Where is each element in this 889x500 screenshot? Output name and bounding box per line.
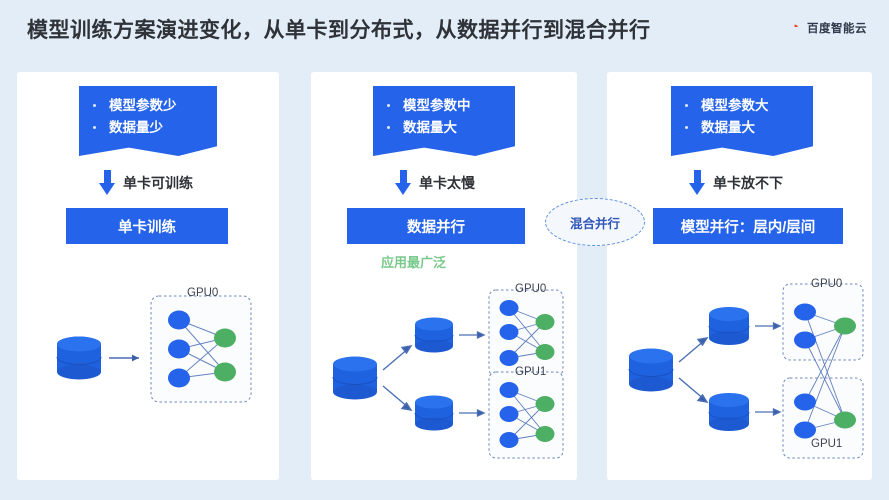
gpu-label: GPU1 <box>811 438 842 450</box>
input-node-group <box>168 311 190 388</box>
output-node-group <box>834 412 856 429</box>
bullet-list: 模型参数少 数据量少 <box>89 95 205 139</box>
page-title: 模型训练方案演进变化，从单卡到分布式，从数据并行到混合并行 <box>27 14 651 44</box>
transition-arrow-row: 单卡放不下 <box>689 170 783 195</box>
strategy-note: 应用最广泛 <box>381 252 446 271</box>
strategy-label-box: 数据并行 <box>347 208 525 244</box>
arrow-caption: 单卡放不下 <box>713 173 783 193</box>
arrow-down-icon <box>99 170 116 195</box>
bullet-list: 模型参数中 数据量大 <box>383 95 503 139</box>
brand-logo: 百度智能云 <box>787 20 867 36</box>
training-diagram-data-parallel: GPU0 GPU1 <box>319 272 569 462</box>
bullet-item: 数据量少 <box>89 117 205 139</box>
shard-cylinder-icon <box>709 393 749 431</box>
bullet-banner: 模型参数少 数据量少 <box>79 86 217 156</box>
bullet-banner: 模型参数大 数据量大 <box>671 86 813 156</box>
gpu-label: GPU0 <box>187 287 218 299</box>
shard-cylinder-icon <box>415 396 453 431</box>
column-card-model-parallel: 模型参数大 数据量大 单卡放不下 模型并行：层内/层间 <box>607 72 872 480</box>
bullet-item: 模型参数大 <box>681 95 801 117</box>
slide-canvas: 模型训练方案演进变化，从单卡到分布式，从数据并行到混合并行 百度智能云 模型参数… <box>0 0 889 500</box>
output-node-group <box>834 318 856 335</box>
column-card-single-card: 模型参数少 数据量少 单卡可训练 单卡训练 <box>17 72 279 480</box>
hybrid-parallel-badge: 混合并行 <box>545 198 645 246</box>
input-node-group <box>500 382 519 448</box>
bullet-item: 模型参数少 <box>89 95 205 117</box>
arrow-down-icon <box>689 170 706 195</box>
gpu-container-box <box>151 296 251 402</box>
bullet-item: 数据量大 <box>383 117 503 139</box>
gpu-label: GPU1 <box>515 366 546 378</box>
flow-arrow-icon <box>109 355 139 362</box>
dataset-cylinder-icon <box>629 349 673 392</box>
arrow-caption: 单卡太慢 <box>419 173 475 193</box>
gpu-label: GPU0 <box>515 283 546 295</box>
bullet-banner: 模型参数中 数据量大 <box>373 86 515 156</box>
training-diagram-single-gpu: GPU0 <box>39 282 259 417</box>
brand-name: 百度智能云 <box>807 20 867 36</box>
flow-arrow-icon <box>459 332 484 416</box>
dataset-cylinder-icon <box>57 337 101 380</box>
bullet-item: 数据量大 <box>681 117 801 139</box>
strategy-label-box: 单卡训练 <box>66 208 228 244</box>
split-arrow-icons <box>679 338 707 402</box>
bullet-list: 模型参数大 数据量大 <box>681 95 801 139</box>
flow-arrow-icon <box>755 323 780 415</box>
dataset-cylinder-icon <box>333 357 377 400</box>
input-node-group <box>500 300 519 366</box>
transition-arrow-row: 单卡可训练 <box>99 170 193 195</box>
gpu-label: GPU0 <box>811 278 842 290</box>
transition-arrow-row: 单卡太慢 <box>395 170 475 195</box>
training-diagram-model-parallel: GPU0 GPU1 <box>615 270 867 466</box>
split-arrow-icons <box>383 346 411 410</box>
column-card-data-parallel: 模型参数中 数据量大 单卡太慢 数据并行 应用最广泛 <box>311 72 577 480</box>
strategy-label-box: 模型并行：层内/层间 <box>653 208 843 244</box>
arrow-caption: 单卡可训练 <box>123 173 193 193</box>
arrow-down-icon <box>395 170 412 195</box>
baidu-cloud-logo-icon <box>787 21 802 36</box>
shard-cylinder-icon <box>709 307 749 345</box>
shard-cylinder-icon <box>415 318 453 353</box>
slide-header: 模型训练方案演进变化，从单卡到分布式，从数据并行到混合并行 百度智能云 <box>0 0 889 56</box>
bullet-item: 模型参数中 <box>383 95 503 117</box>
